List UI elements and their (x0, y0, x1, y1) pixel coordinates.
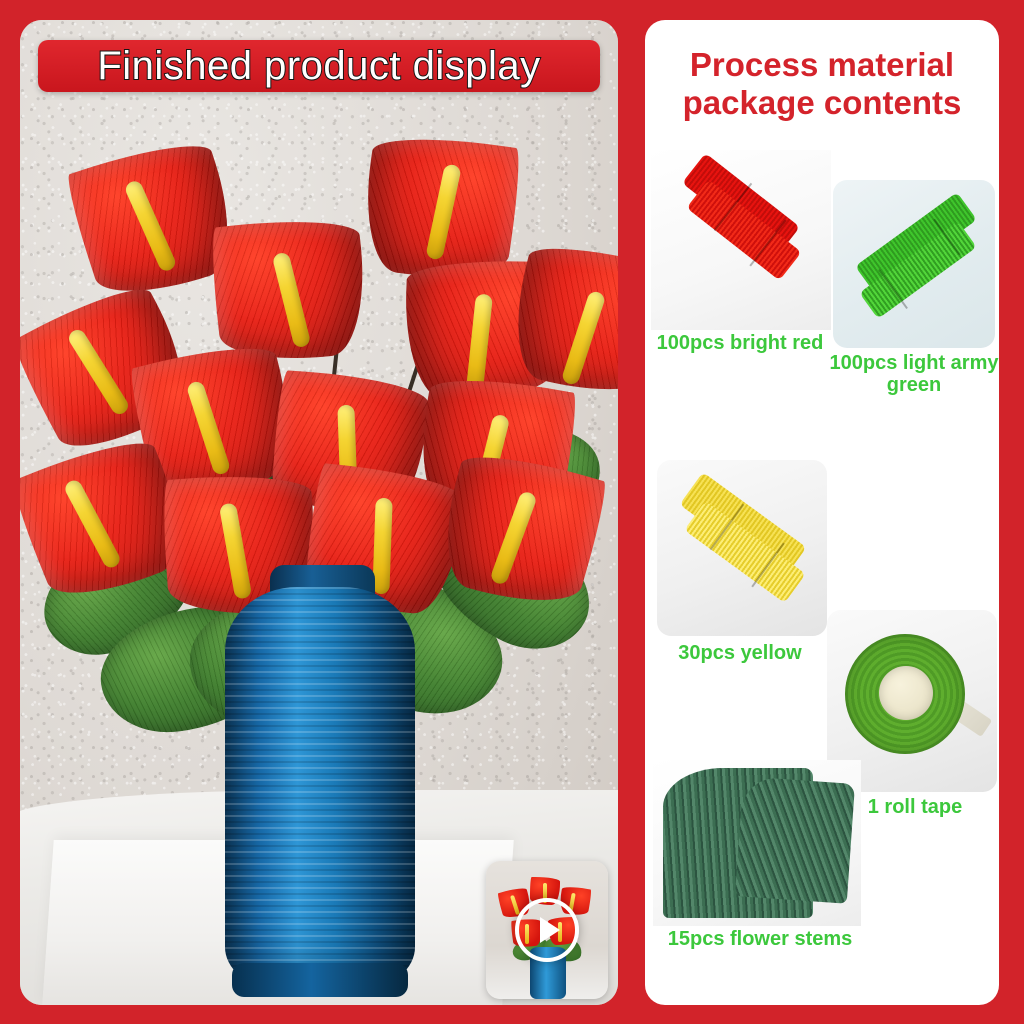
materials-title-line1: Process material (655, 46, 989, 84)
material-label-green: 100pcs light army green (825, 352, 999, 397)
material-item-green: 100pcs light army green (825, 180, 999, 430)
finished-product-photo-panel: Finished product display (20, 20, 618, 1005)
material-item-stems: 15pcs flower stems (645, 760, 875, 980)
tape-core (879, 666, 933, 720)
play-triangle (540, 917, 560, 943)
flower-spadix (372, 498, 392, 595)
material-label-red: 100pcs bright red (645, 332, 835, 354)
red-pipe-cleaner-bundle-icon (651, 150, 831, 330)
material-label-yellow: 30pcs yellow (645, 642, 835, 664)
material-item-yellow: 30pcs yellow (645, 460, 835, 690)
product-infographic: Finished product display Process materia… (0, 0, 1024, 1024)
vase-base (232, 963, 408, 997)
green-pipe-cleaner-bundle-icon (833, 180, 995, 348)
yellow-pipe-cleaner-bundle-icon (657, 460, 827, 636)
page-title: Finished product display (97, 44, 540, 89)
material-item-red: 100pcs bright red (645, 150, 835, 380)
materials-panel-title: Process material package contents (645, 46, 999, 121)
material-label-stems: 15pcs flower stems (645, 928, 875, 950)
green-flower-stems-icon (653, 760, 861, 926)
materials-panel: Process material package contents 100pcs… (645, 20, 999, 1005)
finished-product-title-banner: Finished product display (38, 40, 600, 92)
stems-fan (735, 776, 855, 904)
video-thumbnail[interactable] (486, 861, 608, 999)
play-icon[interactable] (515, 898, 579, 962)
flower-vase (225, 587, 415, 987)
materials-title-line2: package contents (655, 84, 989, 122)
